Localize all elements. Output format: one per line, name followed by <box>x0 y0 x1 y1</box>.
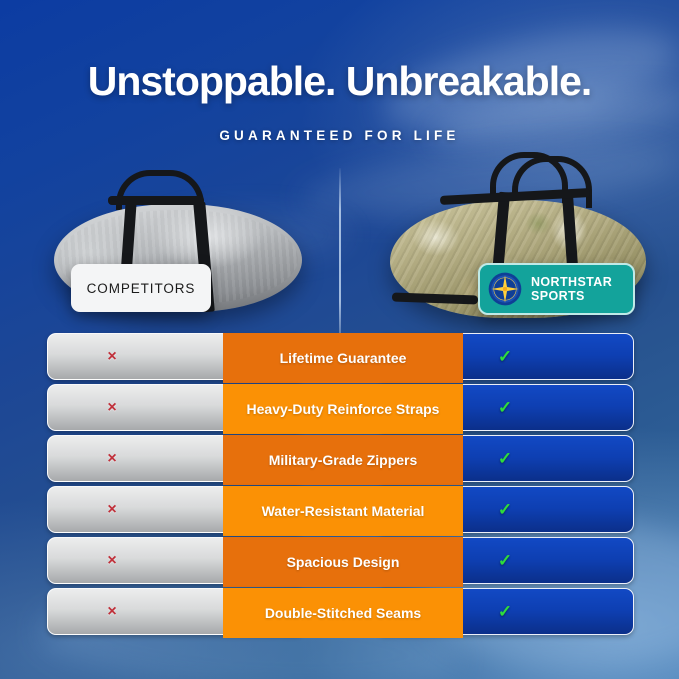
check-icon: ✓ <box>498 347 512 367</box>
northstar-badge-line1: NORTHSTAR <box>531 275 612 289</box>
check-icon: ✓ <box>498 398 512 418</box>
headline: Unstoppable. Unbreakable. <box>0 58 679 105</box>
bag-strap-top <box>108 196 204 205</box>
feature-label: Spacious Design <box>223 537 463 587</box>
cross-icon: × <box>107 552 116 570</box>
column-divider <box>339 168 341 335</box>
subheadline: GUARANTEED FOR LIFE <box>0 128 679 143</box>
northstar-badge: NORTHSTAR SPORTS <box>478 263 635 315</box>
comparison-table: ×✓Lifetime Guarantee×✓Heavy-Duty Reinfor… <box>0 333 679 639</box>
promo-comparison-graphic: Unstoppable. Unbreakable. GUARANTEED FOR… <box>0 0 679 679</box>
compass-star-logo-icon <box>488 272 522 306</box>
check-icon: ✓ <box>498 551 512 571</box>
table-row: ×✓Heavy-Duty Reinforce Straps <box>0 384 679 434</box>
table-row: ×✓Double-Stitched Seams <box>0 588 679 638</box>
feature-label: Military-Grade Zippers <box>223 435 463 485</box>
cross-icon: × <box>107 399 116 417</box>
table-row: ×✓Lifetime Guarantee <box>0 333 679 383</box>
cross-icon: × <box>107 603 116 621</box>
table-row: ×✓Water-Resistant Material <box>0 486 679 536</box>
feature-label: Lifetime Guarantee <box>223 333 463 383</box>
northstar-badge-line2: SPORTS <box>531 289 585 303</box>
feature-label: Water-Resistant Material <box>223 486 463 536</box>
check-icon: ✓ <box>498 500 512 520</box>
bag-strap-bottom <box>392 293 478 305</box>
cross-icon: × <box>107 501 116 519</box>
competitors-badge: COMPETITORS <box>71 264 211 312</box>
northstar-badge-label: NORTHSTAR SPORTS <box>531 275 612 303</box>
cross-icon: × <box>107 450 116 468</box>
table-row: ×✓Military-Grade Zippers <box>0 435 679 485</box>
cross-icon: × <box>107 348 116 366</box>
competitors-badge-label: COMPETITORS <box>87 281 196 296</box>
check-icon: ✓ <box>498 449 512 469</box>
feature-label: Double-Stitched Seams <box>223 588 463 638</box>
check-icon: ✓ <box>498 602 512 622</box>
table-row: ×✓Spacious Design <box>0 537 679 587</box>
feature-label: Heavy-Duty Reinforce Straps <box>223 384 463 434</box>
